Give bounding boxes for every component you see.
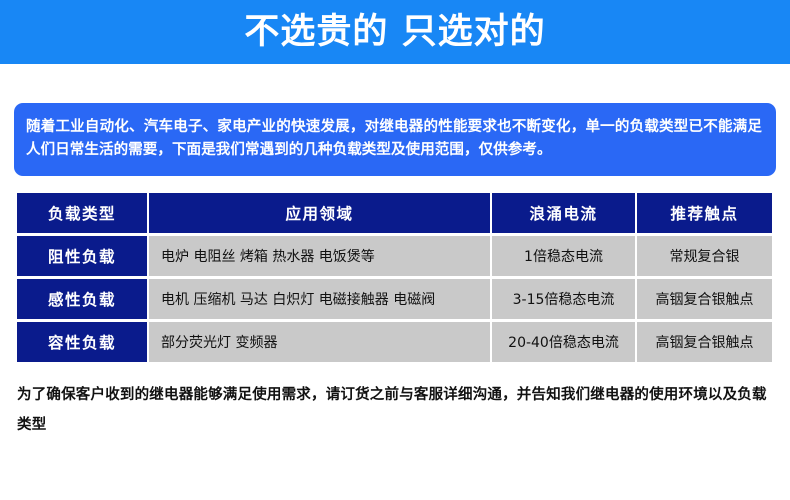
intro-paragraph: 随着工业自动化、汽车电子、家电产业的快速发展，对继电器的性能要求也不断变化，单一…	[26, 116, 762, 163]
table-header-row: 负载类型 应用领域 浪涌电流 推荐触点	[17, 193, 772, 236]
cell-surge-current: 1倍稳态电流	[490, 236, 635, 279]
footer-note: 为了确保客户收到的继电器能够满足使用需求，请订货之前与客服详细沟通，并告知我们继…	[17, 381, 772, 440]
column-header-recommended-contact: 推荐触点	[635, 193, 772, 236]
intro-box: 随着工业自动化、汽车电子、家电产业的快速发展，对继电器的性能要求也不断变化，单一…	[14, 103, 776, 176]
cell-surge-current: 20-40倍稳态电流	[490, 322, 635, 365]
table-row: 阻性负载 电炉 电阻丝 烤箱 热水器 电饭煲等 1倍稳态电流 常规复合银	[17, 236, 772, 279]
cell-application: 电炉 电阻丝 烤箱 热水器 电饭煲等	[147, 236, 490, 279]
cell-recommended-contact: 高铟复合银触点	[635, 279, 772, 322]
footer-section: 为了确保客户收到的继电器能够满足使用需求，请订货之前与客服详细沟通，并告知我们继…	[0, 365, 790, 440]
header-banner: 不选贵的 只选对的	[0, 0, 790, 64]
cell-recommended-contact: 高铟复合银触点	[635, 322, 772, 365]
column-header-load-type: 负载类型	[17, 193, 147, 236]
column-header-application: 应用领域	[147, 193, 490, 236]
table-section: 负载类型 应用领域 浪涌电流 推荐触点 阻性负载 电炉 电阻丝 烤箱 热水器 电…	[0, 176, 790, 365]
cell-surge-current: 3-15倍稳态电流	[490, 279, 635, 322]
cell-application: 部分荧光灯 变频器	[147, 322, 490, 365]
cell-load-type: 容性负载	[17, 322, 147, 365]
cell-application: 电机 压缩机 马达 白炽灯 电磁接触器 电磁阀	[147, 279, 490, 322]
page-title: 不选贵的 只选对的	[244, 15, 545, 50]
column-header-surge-current: 浪涌电流	[490, 193, 635, 236]
intro-section: 随着工业自动化、汽车电子、家电产业的快速发展，对继电器的性能要求也不断变化，单一…	[0, 64, 790, 176]
table-row: 感性负载 电机 压缩机 马达 白炽灯 电磁接触器 电磁阀 3-15倍稳态电流 高…	[17, 279, 772, 322]
table-row: 容性负载 部分荧光灯 变频器 20-40倍稳态电流 高铟复合银触点	[17, 322, 772, 365]
load-type-table: 负载类型 应用领域 浪涌电流 推荐触点 阻性负载 电炉 电阻丝 烤箱 热水器 电…	[17, 193, 772, 365]
cell-load-type: 感性负载	[17, 279, 147, 322]
cell-recommended-contact: 常规复合银	[635, 236, 772, 279]
cell-load-type: 阻性负载	[17, 236, 147, 279]
